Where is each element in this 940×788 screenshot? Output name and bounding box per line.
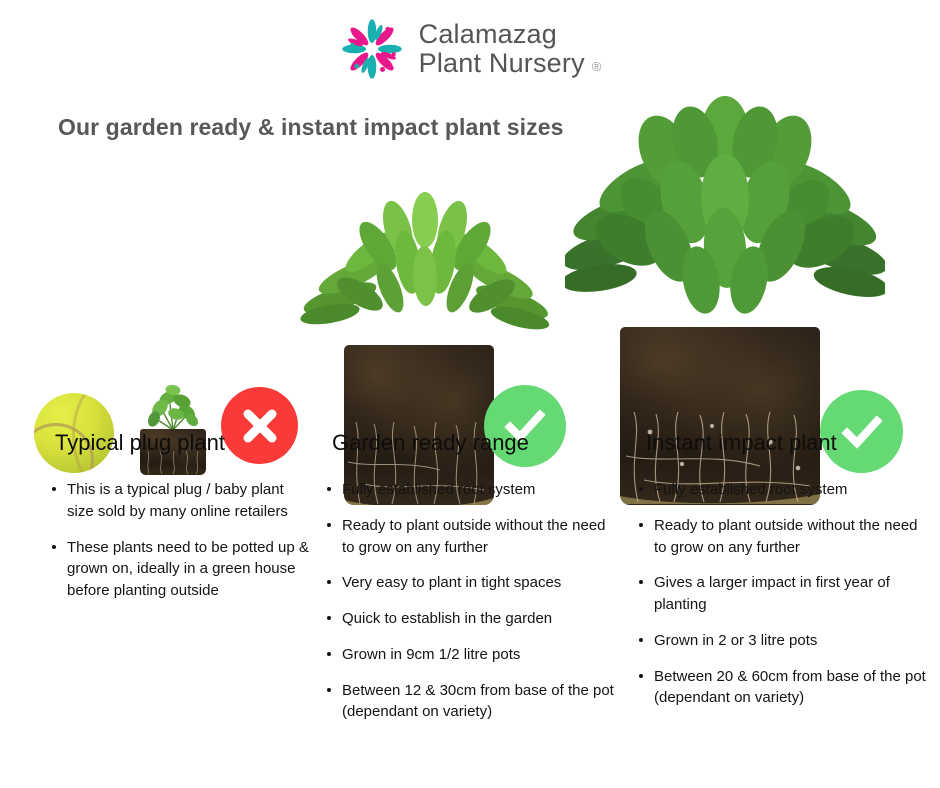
- list-item: Gives a larger impact in first year of p…: [632, 572, 932, 616]
- list-item: Between 12 & 30cm from base of the pot (…: [320, 680, 620, 724]
- feature-list: Fully established root system Ready to p…: [632, 479, 932, 709]
- instant-impact-foliage: [565, 90, 885, 340]
- comparison-columns: Typical plug plant This is a typical plu…: [0, 430, 940, 760]
- registered-mark-icon: ®: [592, 60, 602, 74]
- brand-logo: Calamazag Plant Nursery ®: [0, 16, 940, 82]
- list-item: Grown in 2 or 3 litre pots: [632, 630, 932, 652]
- garden-ready-foliage: [300, 190, 550, 370]
- flower-petal-logo-icon: [339, 16, 405, 82]
- column-title: Instant impact plant: [632, 430, 932, 456]
- list-item: Ready to plant outside without the need …: [320, 515, 620, 559]
- list-item: Fully established root system: [320, 479, 620, 501]
- column-title: Garden ready range: [320, 430, 620, 456]
- list-item: Between 20 & 60cm from base of the pot (…: [632, 666, 932, 710]
- column-title: Typical plug plant: [45, 430, 310, 456]
- feature-list: Fully established root system Ready to p…: [320, 479, 620, 723]
- feature-list: This is a typical plug / baby plant size…: [45, 479, 310, 602]
- column-instant-impact-plant: Instant impact plant Fully established r…: [632, 430, 932, 723]
- list-item: Fully established root system: [632, 479, 932, 501]
- column-typical-plug-plant: Typical plug plant This is a typical plu…: [45, 430, 310, 616]
- plug-plant-foliage: [140, 370, 206, 437]
- list-item: This is a typical plug / baby plant size…: [45, 479, 310, 523]
- list-item: Very easy to plant in tight spaces: [320, 572, 620, 594]
- list-item: Grown in 9cm 1/2 litre pots: [320, 644, 620, 666]
- plant-size-comparison-stage: [0, 80, 940, 425]
- brand-name-line-2: Plant Nursery: [419, 49, 585, 78]
- column-garden-ready-range: Garden ready range Fully established roo…: [320, 430, 620, 737]
- logo-inner: Calamazag Plant Nursery ®: [339, 16, 602, 82]
- brand-name-line-1: Calamazag: [419, 20, 602, 49]
- list-item: Ready to plant outside without the need …: [632, 515, 932, 559]
- logo-wordmark: Calamazag Plant Nursery ®: [419, 20, 602, 78]
- list-item: These plants need to be potted up & grow…: [45, 537, 310, 602]
- list-item: Quick to establish in the garden: [320, 608, 620, 630]
- brand-name-line-2-wrap: Plant Nursery ®: [419, 49, 602, 78]
